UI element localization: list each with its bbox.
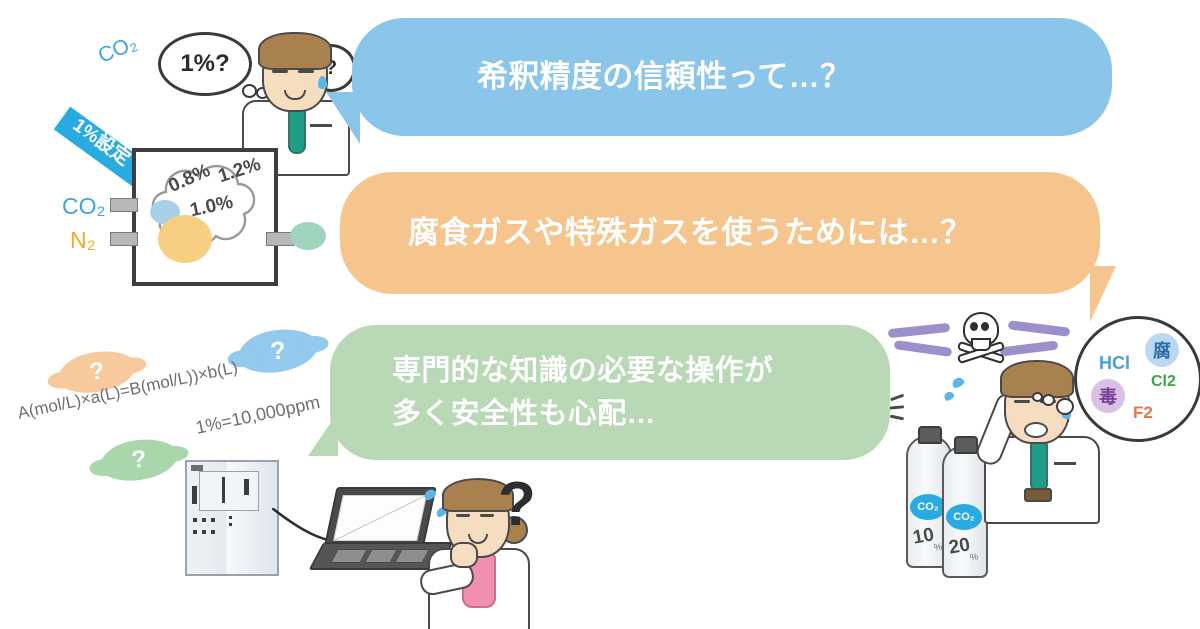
speech-bubble-text: 腐食ガスや特殊ガスを使うためには…？ <box>340 212 972 254</box>
speech-bubble-text: 希釈精度の信頼性って…？ <box>352 56 851 98</box>
hair <box>258 32 332 70</box>
speech-bubble-tail <box>326 92 360 144</box>
hazard-badge-corrosive: 腐 <box>1145 333 1179 367</box>
toxic-smoke-wave <box>888 323 951 338</box>
hazard-label-hcl: HCl <box>1099 353 1130 374</box>
big-question-mark: ? <box>498 474 536 536</box>
hazard-label-f2: F2 <box>1133 403 1153 423</box>
toxic-smoke-wave <box>1008 320 1071 336</box>
instrument-display <box>199 471 259 511</box>
infographic-canvas: CO₂ 1%? ? 1%設定 0.8% 1.2% 1.0% CO₂ N₂ <box>0 0 1200 629</box>
cylinder-concentration: 10 <box>911 524 936 549</box>
cylinder-unit: % <box>969 551 979 562</box>
hazard-label-cl2: Cl2 <box>1151 373 1176 391</box>
sweat-drop-icon <box>318 76 327 89</box>
sweat-drop-icon <box>943 390 956 402</box>
cylinder-gas-label: CO₂ <box>910 494 946 520</box>
speech-bubble-text: 専門的な知識の必要な操作が 多く安全性も心配… <box>330 350 773 434</box>
instrument-leds-row-2 <box>193 530 219 534</box>
eye-right <box>480 514 494 517</box>
splat-question-green: ? <box>98 437 179 484</box>
speech-bubble-dilution-accuracy: 希釈精度の信頼性って…？ <box>352 18 1112 136</box>
necktie <box>288 106 306 154</box>
splat-question-blue: ? <box>236 327 319 376</box>
eye-left <box>1014 400 1030 403</box>
mixed-gas-puff <box>290 222 326 250</box>
laptop-screen-glare <box>333 495 427 541</box>
speech-bubble-expertise-safety: 専門的な知識の必要な操作が 多く安全性も心配… <box>330 325 890 460</box>
splat-text: ? <box>130 445 147 474</box>
eye-right <box>298 70 314 73</box>
speech-bubble-tail <box>1090 266 1116 322</box>
mouth <box>1024 422 1048 438</box>
inlet-port-n2 <box>110 232 138 246</box>
skull-jaw <box>971 338 991 351</box>
co2-gas-label-top: CO₂ <box>95 31 141 68</box>
thought-dot-large <box>1056 398 1074 415</box>
motion-line <box>888 405 904 409</box>
hazard-thought-bubble: HCl 腐 Cl2 毒 F2 <box>1074 316 1200 442</box>
motion-line <box>890 415 904 420</box>
splat-text: ? <box>269 336 287 366</box>
thought-dot-small <box>1032 392 1043 402</box>
motion-line <box>890 394 904 401</box>
n2-puff <box>158 215 212 263</box>
skull-eye-right <box>981 322 989 331</box>
wristwatch <box>1024 488 1052 502</box>
eye-left <box>272 70 288 73</box>
splat-text: ? <box>88 357 106 386</box>
necktie <box>1030 442 1048 492</box>
display-bar-2 <box>244 479 249 495</box>
instrument-leds-column <box>229 516 232 528</box>
instrument-leds-row-1 <box>193 518 219 522</box>
cylinder-concentration: 20 <box>947 534 972 559</box>
inlet-port-co2 <box>110 198 138 212</box>
instrument-slot <box>192 486 197 504</box>
thought-dot-medium <box>1042 394 1055 406</box>
display-bar-1 <box>222 477 225 503</box>
toxic-smoke-wave <box>894 340 953 357</box>
inlet-label-n2: N₂ <box>70 227 96 254</box>
gas-analyzer-instrument <box>185 460 279 576</box>
sweat-drop-icon <box>951 376 966 390</box>
cylinder-valve <box>954 436 978 454</box>
speech-bubble-corrosive-gas: 腐食ガスや特殊ガスを使うためには…？ <box>340 172 1100 294</box>
skull-eye-left <box>970 322 978 331</box>
inlet-label-co2: CO₂ <box>62 193 105 220</box>
hazard-badge-toxic: 毒 <box>1091 379 1125 413</box>
ppm-conversion: 1%=10,000ppm <box>194 392 322 439</box>
cylinder-valve <box>918 426 942 444</box>
eye-left <box>456 514 470 517</box>
coat-pocket <box>1054 462 1076 465</box>
hand <box>450 542 478 568</box>
